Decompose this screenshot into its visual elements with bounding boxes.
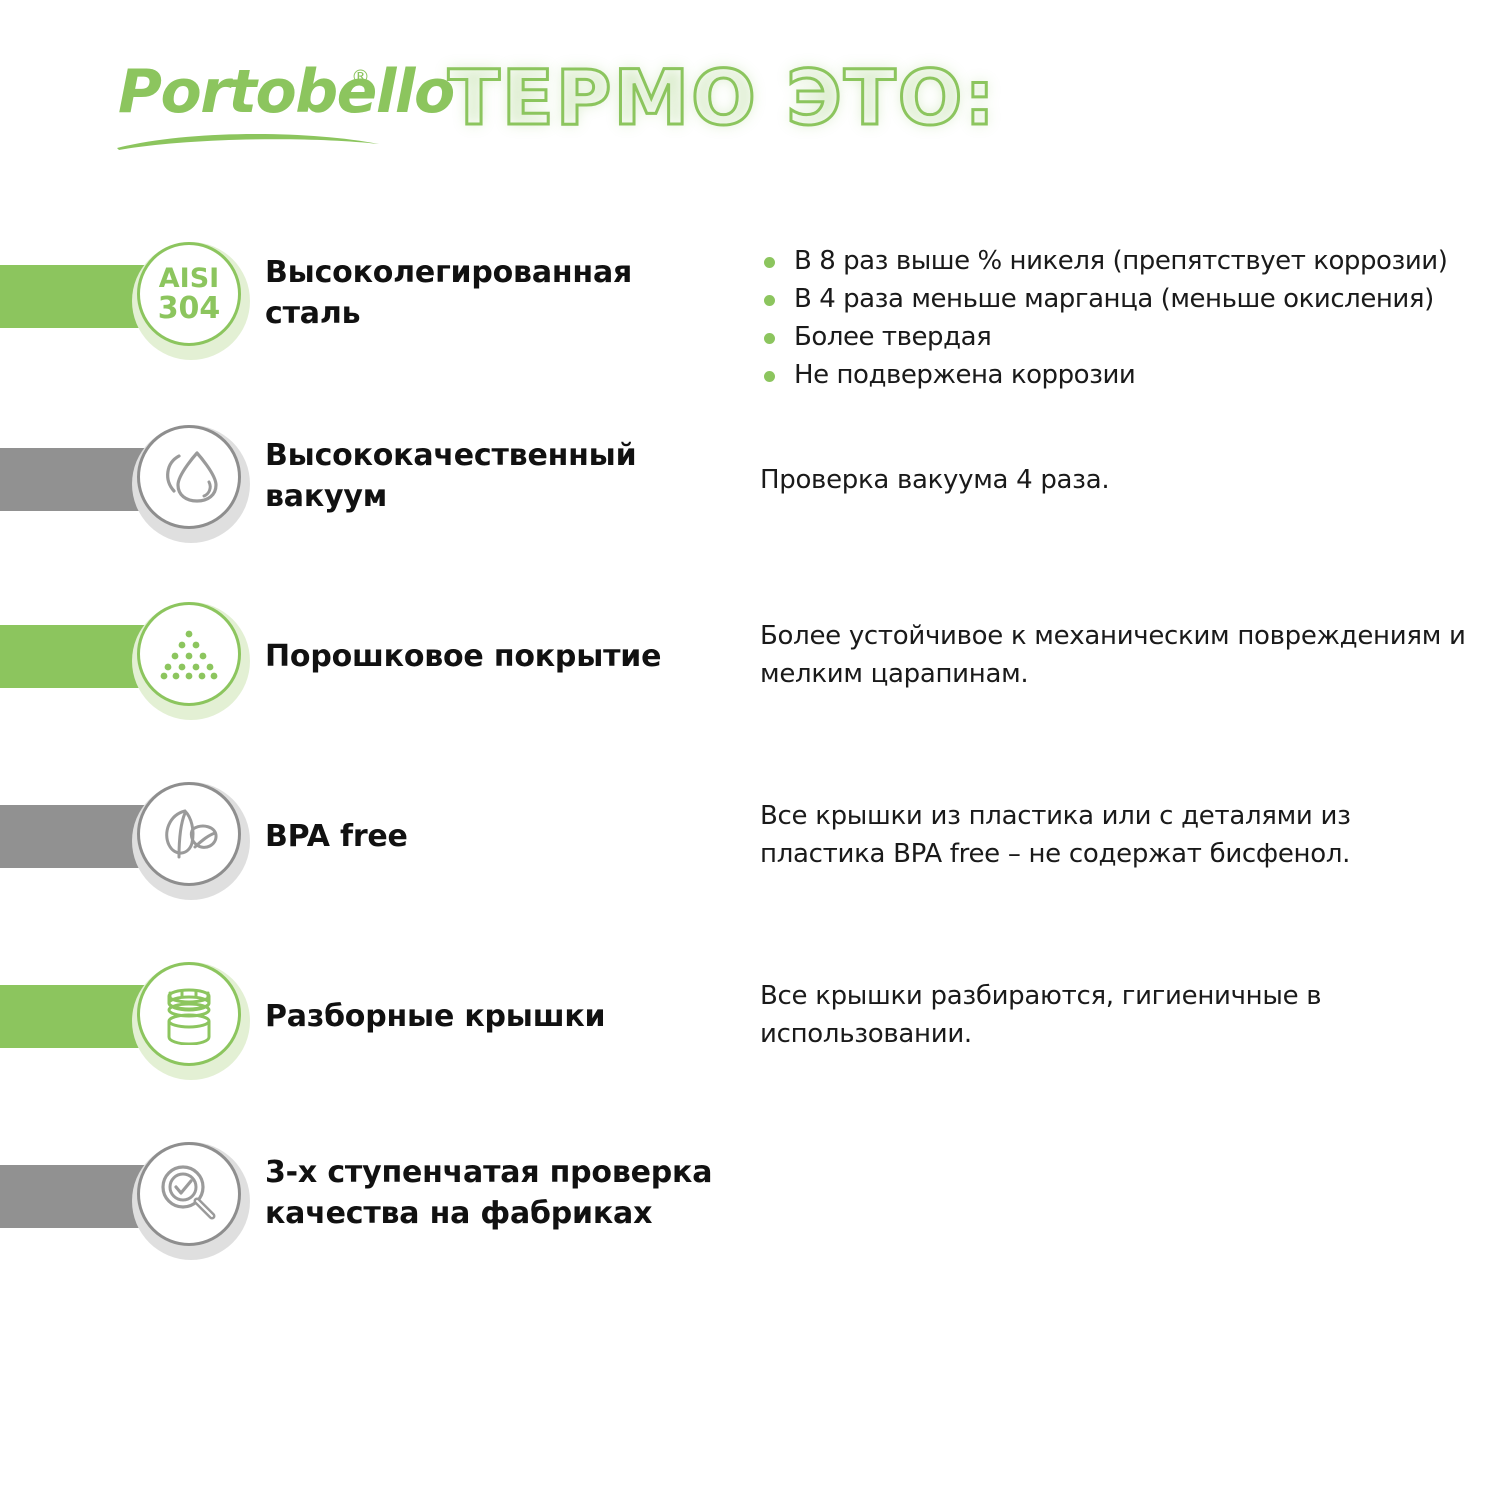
feature-description: Более устойчивое к механическим поврежде…: [760, 617, 1480, 693]
water-drop-glyph: [156, 444, 222, 510]
leaves-glyph: [155, 803, 223, 865]
list-item: В 8 раз выше % никеля (препятствует корр…: [760, 242, 1500, 280]
aisi-304-badge-icon: AISI 304: [132, 242, 250, 360]
lid-glyph: [156, 983, 222, 1045]
bullet-text: В 4 раза меньше марганца (меньше окислен…: [794, 284, 1434, 314]
list-item: В 4 раза меньше марганца (меньше окислен…: [760, 280, 1500, 318]
feature-row-steel: AISI 304 Высоколегированная сталь В 8 ра…: [0, 230, 1500, 410]
badge-label-grade: 304: [158, 293, 221, 325]
badge-label-standard: AISI: [159, 264, 219, 293]
bullet-dot-icon: [764, 333, 775, 344]
bullet-dot-icon: [764, 257, 775, 268]
badge-disc: [137, 1142, 241, 1246]
feature-description: Все крышки из пластика или с деталями из…: [760, 797, 1480, 873]
leaves-icon: [132, 782, 250, 900]
feature-title: Порошковое покрытие: [265, 636, 735, 677]
feature-list: AISI 304 Высоколегированная сталь В 8 ра…: [0, 0, 1500, 1500]
badge-disc: [137, 425, 241, 529]
list-item: Не подвержена коррозии: [760, 356, 1500, 394]
feature-title: 3-х ступенчатая проверка качества на фаб…: [265, 1152, 735, 1234]
feature-title: BPA free: [265, 816, 735, 857]
magnifier-check-glyph: [156, 1161, 222, 1227]
bullet-text: Не подвержена коррозии: [794, 360, 1135, 390]
powder-dots-icon: [132, 602, 250, 720]
powder-dots-glyph: [158, 626, 220, 682]
feature-title: Высоколегированная сталь: [265, 252, 735, 334]
badge-disc: [137, 602, 241, 706]
magnifier-check-icon: [132, 1142, 250, 1260]
feature-row-vacuum: Высококачественный вакуум Проверка вакуу…: [0, 413, 1500, 593]
feature-row-quality-check: 3-х ступенчатая проверка качества на фаб…: [0, 1130, 1500, 1310]
bullet-dot-icon: [764, 295, 775, 306]
list-item: Более твердая: [760, 318, 1500, 356]
lid-icon: [132, 962, 250, 1080]
feature-description: Проверка вакуума 4 раза.: [760, 461, 1480, 499]
badge-disc: AISI 304: [137, 242, 241, 346]
feature-title: Высококачественный вакуум: [265, 435, 735, 517]
badge-disc: [137, 962, 241, 1066]
badge-disc: [137, 782, 241, 886]
feature-description: Все крышки разбираются, гигиеничные в ис…: [760, 977, 1480, 1053]
feature-title: Разборные крышки: [265, 996, 735, 1037]
feature-row-lids: Разборные крышки Все крышки разбираются,…: [0, 950, 1500, 1130]
bullet-dot-icon: [764, 371, 775, 382]
bullet-text: Более твердая: [794, 322, 991, 352]
water-drop-icon: [132, 425, 250, 543]
bullet-text: В 8 раз выше % никеля (препятствует корр…: [794, 246, 1447, 276]
feature-row-powder-coating: Порошковое покрытие Более устойчивое к м…: [0, 590, 1500, 770]
feature-bullet-list: В 8 раз выше % никеля (препятствует корр…: [760, 242, 1500, 394]
feature-row-bpa-free: BPA free Все крышки из пластика или с де…: [0, 770, 1500, 950]
